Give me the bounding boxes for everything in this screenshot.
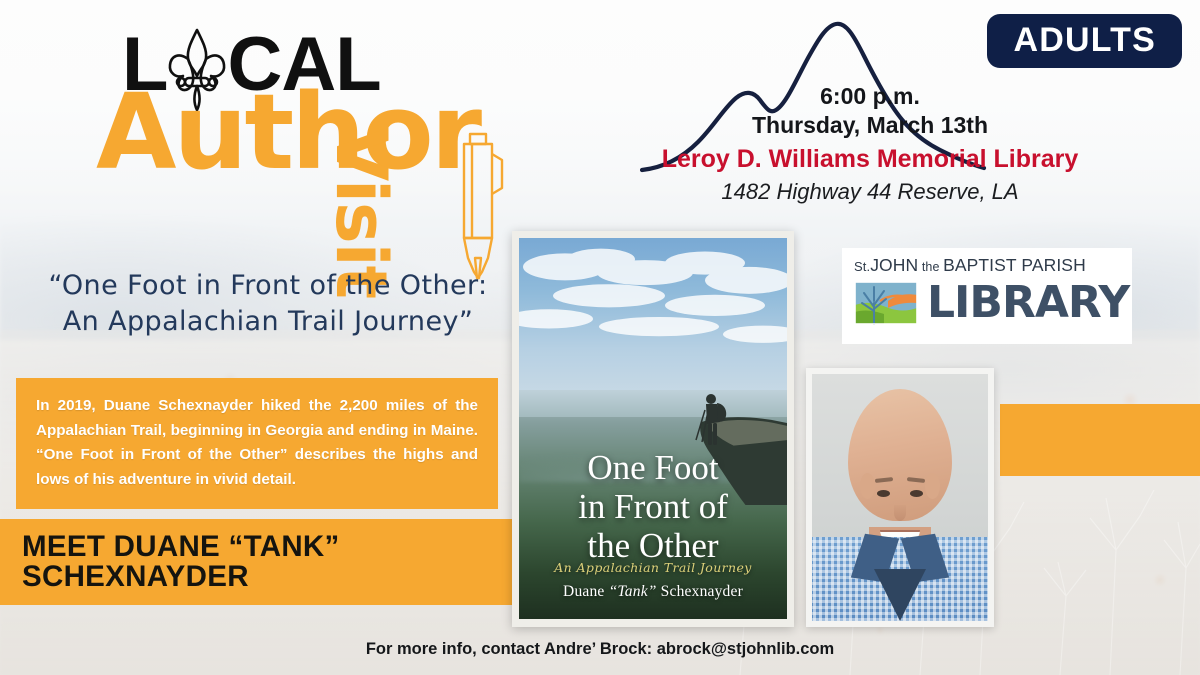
book-cover-author-last: Schexnayder [657,583,743,600]
library-logo-parish: BAPTIST PARISH [943,255,1086,275]
library-logo-toprow: St.JOHN the BAPTIST PARISH [854,257,1120,275]
local-author-visit-lockup: L CAL Author [96,22,496,262]
word-author: Author [96,80,479,184]
event-date: Thursday, March 13th [660,110,1080,141]
library-logo-john: JOHN [870,255,918,275]
author-headshot [806,368,994,627]
book-cover-hiker-icon [691,392,731,450]
event-details: 6:00 p.m. Thursday, March 13th Leroy D. … [660,82,1080,207]
library-logo: St.JOHN the BAPTIST PARISH LIBRARY [842,248,1132,344]
book-cover-author-nickname: “Tank” [609,583,657,600]
book-cover-image: One Foot in Front of the Other An Appala… [519,238,787,619]
portrait-head [848,389,952,521]
portrait-ear-left [860,473,875,499]
tree-landscape-icon [854,281,918,325]
event-time: 6:00 p.m. [660,82,1080,110]
book-cover-title-line-2: in Front of [519,487,787,526]
book-cover-title-line-1: One Foot [519,448,787,487]
book-cover-author: Duane “Tank” Schexnayder [519,583,787,601]
author-headshot-image [812,374,988,621]
event-address: 1482 Highway 44 Reserve, LA [660,177,1080,208]
book-cover-author-first: Duane [563,583,609,600]
book-title-line-1: “One Foot in Front of the Other: [22,268,514,304]
book-description-box: In 2019, Duane Schexnayder hiked the 2,2… [16,378,498,509]
contact-info: For more info, contact Andre’ Brock: abr… [0,640,1200,659]
portrait-undershirt [874,569,926,621]
library-logo-saint: St. [854,259,870,274]
portrait-eye-right [910,490,923,497]
book-title-line-2: An Appalachian Trail Journey” [22,304,514,340]
library-logo-word: LIBRARY [927,281,1129,325]
portrait-nose [894,505,906,521]
library-logo-the: the [918,260,943,274]
library-logo-bottomrow: LIBRARY [854,281,1120,325]
book-cover-subtitle: An Appalachian Trail Journey [519,560,787,575]
meet-author-banner: MEET DUANE “TANK” SCHEXNAYDER [0,519,514,605]
pen-icon [458,130,504,280]
book-cover: One Foot in Front of the Other An Appala… [512,231,794,627]
poster-canvas: ADULTS L CAL Author [0,0,1200,675]
book-title-heading: “One Foot in Front of the Other: An Appa… [22,268,514,339]
accent-bar [1000,404,1200,476]
book-cover-title: One Foot in Front of the Other [519,448,787,566]
event-venue: Leroy D. Williams Memorial Library [660,142,1080,177]
